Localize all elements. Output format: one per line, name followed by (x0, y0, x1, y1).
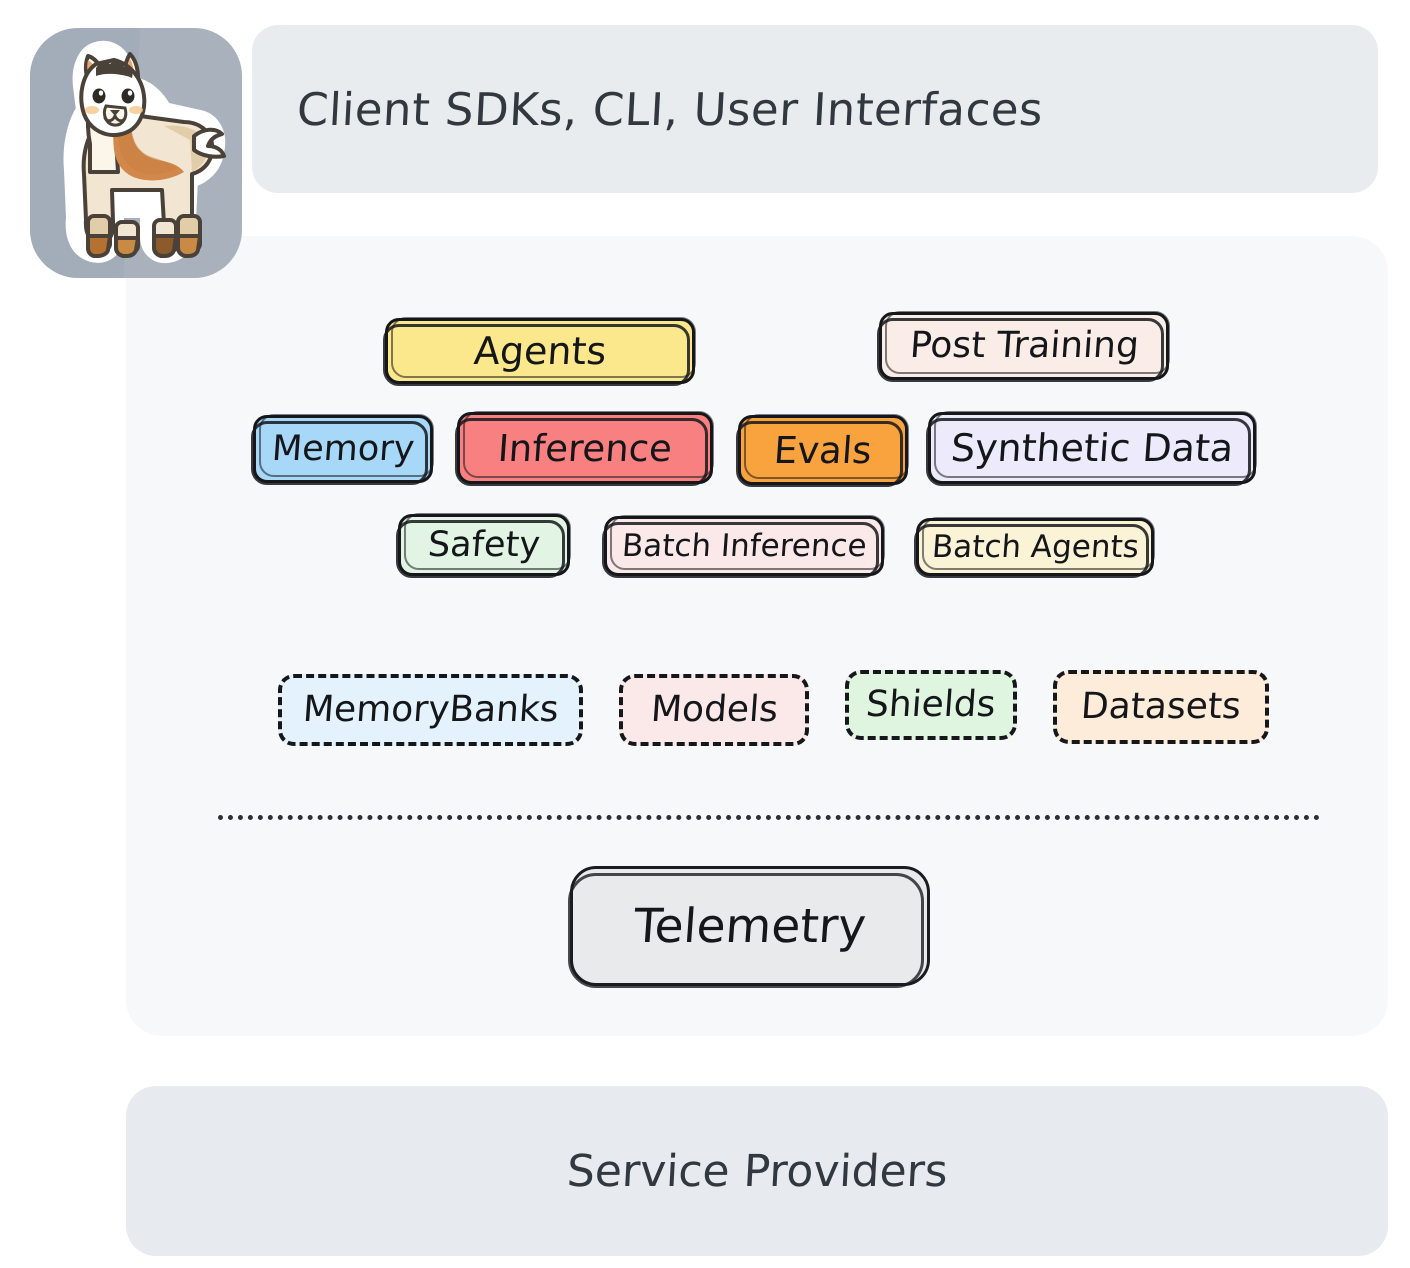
service-providers-title: Service Providers (565, 1146, 948, 1197)
resource-node-label: Shields (865, 687, 997, 723)
api-node-inference[interactable]: Inference (457, 412, 713, 484)
resource-node-datasets[interactable]: Datasets (1053, 670, 1269, 744)
telemetry-label: Telemetry (632, 899, 868, 954)
resource-node-memorybanks[interactable]: MemoryBanks (278, 674, 583, 746)
api-node-label: Evals (773, 432, 873, 469)
api-node-batch-inference[interactable]: Batch Inference (604, 516, 884, 576)
resource-node-shields[interactable]: Shields (845, 670, 1017, 740)
page-title: Client SDKs, CLI, User Interfaces (296, 83, 1045, 136)
api-node-agents[interactable]: Agents (385, 318, 695, 384)
section-divider (218, 815, 1320, 820)
api-node-safety[interactable]: Safety (398, 514, 570, 576)
api-node-batch-agents[interactable]: Batch Agents (916, 518, 1154, 576)
header-banner: Client SDKs, CLI, User Interfaces (252, 25, 1378, 193)
api-node-evals[interactable]: Evals (738, 415, 908, 485)
api-node-label: Post Training (908, 328, 1139, 364)
llama-logo-icon (30, 28, 242, 278)
api-node-label: Inference (497, 430, 673, 467)
api-node-label: Safety (427, 528, 541, 563)
service-providers-panel: Service Providers (126, 1086, 1388, 1256)
resource-node-label: Datasets (1080, 689, 1242, 725)
api-node-label: Batch Agents (930, 532, 1139, 563)
resource-node-models[interactable]: Models (619, 674, 809, 746)
api-node-label: Synthetic Data (950, 429, 1235, 467)
api-node-synthetic-data[interactable]: Synthetic Data (928, 412, 1256, 484)
resource-node-label: Models (649, 692, 778, 728)
resource-node-label: MemoryBanks (301, 692, 559, 728)
api-node-label: Batch Inference (621, 531, 868, 562)
api-node-memory[interactable]: Memory (253, 415, 433, 483)
llama-illustration-icon (44, 40, 232, 268)
api-node-label: Agents (473, 332, 608, 370)
api-node-post-training[interactable]: Post Training (879, 312, 1169, 380)
telemetry-node[interactable]: Telemetry (570, 866, 930, 986)
api-node-label: Memory (271, 432, 416, 467)
